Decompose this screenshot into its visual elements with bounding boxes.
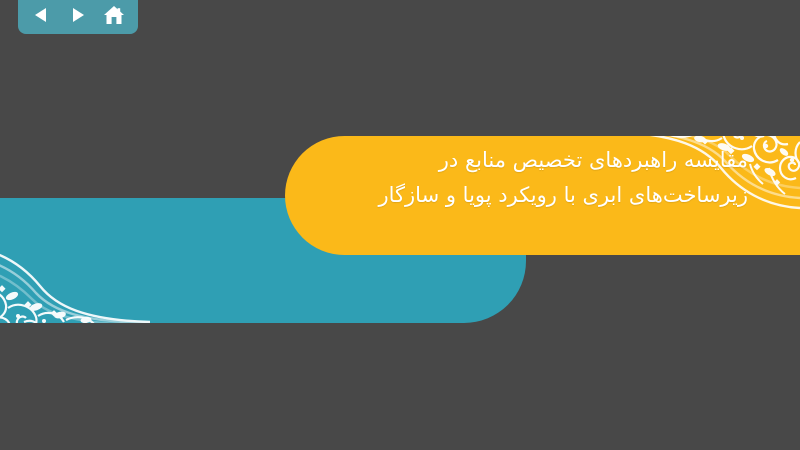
arabesque-ornament-teal-icon — [0, 198, 150, 323]
home-icon — [103, 5, 125, 26]
back-button[interactable] — [28, 2, 56, 28]
slide-navigation-bar[interactable] — [18, 0, 138, 34]
back-triangle-icon — [32, 5, 52, 25]
forward-triangle-icon — [68, 5, 88, 25]
slide-title-line-1: مقایسه راهبردهای تخصیص منابع در — [300, 143, 748, 178]
presentation-slide: مقایسه راهبردهای تخصیص منابع در زیرساخت‌… — [0, 0, 800, 450]
home-button[interactable] — [100, 2, 128, 28]
forward-button[interactable] — [64, 2, 92, 28]
slide-title: مقایسه راهبردهای تخصیص منابع در زیرساخت‌… — [300, 143, 770, 213]
slide-title-line-2: زیرساخت‌های ابری با رویکرد پویا و سازگار — [300, 178, 748, 213]
